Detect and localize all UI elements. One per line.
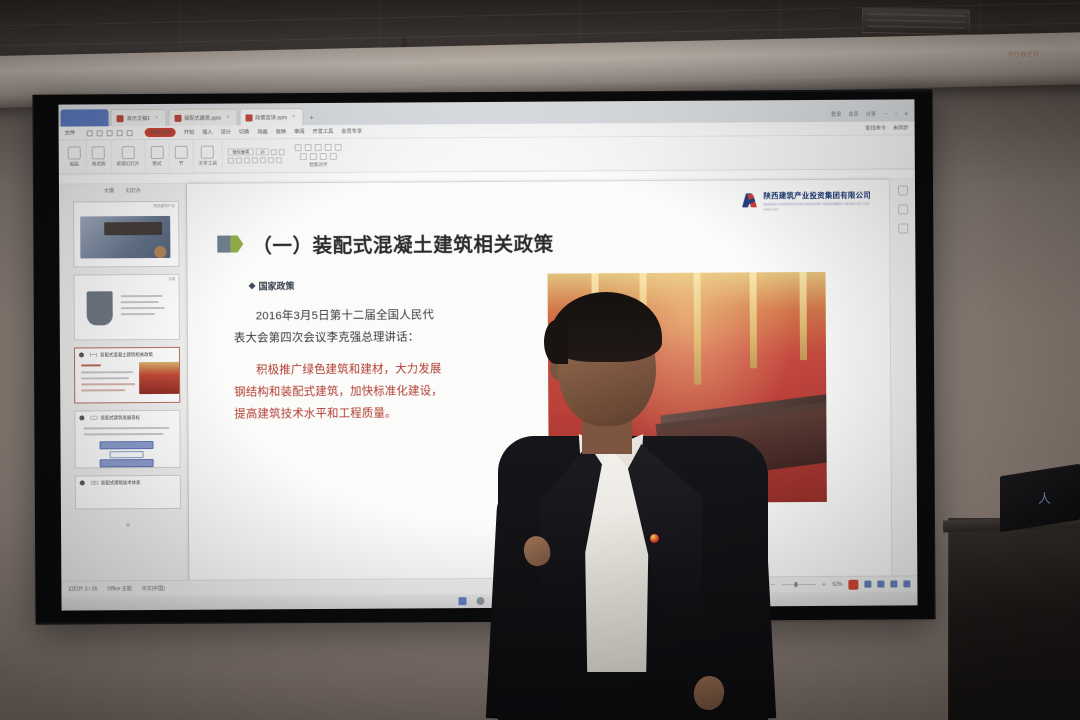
menu-item-view[interactable]: 开发工具	[312, 128, 333, 135]
sync-status: 未同步	[893, 124, 909, 131]
font-name-input[interactable]: 微软雅黑	[228, 148, 254, 155]
decrease-font-icon[interactable]	[279, 149, 285, 155]
close-button[interactable]: ✕	[904, 111, 908, 117]
podium	[948, 518, 1080, 720]
sorter-view-icon[interactable]	[877, 581, 884, 588]
add-slide-button[interactable]: +	[75, 518, 181, 533]
format-painter-icon	[92, 146, 105, 159]
company-logo: 陕西建筑产业投资集团有限公司 SHAANXI CONSTRUCTION INDU…	[742, 190, 871, 212]
zoom-out-button[interactable]: －	[770, 581, 775, 588]
ceiling-vent	[862, 7, 970, 35]
underline-icon[interactable]	[244, 157, 250, 163]
presenter	[498, 286, 768, 720]
tab-document-3[interactable]: 政策宣讲.pptx ×	[239, 108, 303, 125]
company-name-cn: 陕西建筑产业投资集团有限公司	[763, 190, 871, 202]
ribbon-group-section[interactable]: 节	[169, 140, 193, 173]
member-button[interactable]: 会员	[848, 111, 858, 118]
align-right-icon[interactable]	[315, 143, 322, 150]
login-button[interactable]: 登录	[831, 111, 841, 118]
thumbnail-slide-1[interactable]: 1 陕西建筑产业	[73, 201, 179, 268]
thumbnail-bullet-icon	[79, 415, 84, 420]
presenter-hair	[550, 292, 662, 362]
thumbnail-slide-4[interactable]: 4 （二）装配式建筑发展目标	[74, 410, 180, 469]
zoom-slider[interactable]	[781, 584, 815, 586]
laptop-logo-icon: 人	[1038, 492, 1050, 506]
slide-title-row: （一）装配式混凝土建筑相关政策	[217, 228, 554, 259]
font-color-icon[interactable]	[268, 157, 274, 163]
menu-item-start[interactable]: 开始	[184, 129, 194, 136]
new-slide-icon	[121, 146, 134, 159]
columns-icon[interactable]	[310, 153, 317, 160]
align-center-icon[interactable]	[305, 144, 312, 151]
wps-file-icon	[117, 115, 124, 122]
slide-title: （一）装配式混凝土建筑相关政策	[252, 228, 554, 259]
zoom-level-label: 52%	[832, 581, 842, 587]
cursor-icon[interactable]	[127, 130, 133, 136]
language-label[interactable]: 中文(中国)	[142, 585, 165, 592]
template-label: Office 主题	[107, 585, 131, 592]
chevron-marker-icon	[217, 235, 243, 252]
font-size-input[interactable]: 18	[256, 148, 269, 155]
slide-count-label: 幻灯片 3 / 26	[68, 585, 97, 592]
tab-close-icon[interactable]: ×	[155, 115, 158, 121]
thumbnail-slide-3[interactable]: 3 （一）装配式混凝土建筑相关政策	[74, 347, 180, 404]
menu-item-slideshow[interactable]: 放映	[276, 128, 286, 135]
italic-icon[interactable]	[236, 157, 242, 163]
line-spacing-icon[interactable]	[300, 153, 307, 160]
menu-item-member[interactable]: 会员专享	[341, 128, 362, 135]
bullets-icon[interactable]	[325, 143, 332, 150]
right-tool-rail	[889, 179, 917, 575]
thumbnail-title: （三）装配式建筑技术体系	[88, 480, 162, 486]
maximize-button[interactable]: ▫	[895, 111, 897, 117]
projected-image: 演示文稿1 × 装配式建筑.pptx × 政策宣讲.pptx × +	[58, 99, 917, 610]
ribbon-group-format-painter[interactable]: 格式刷	[87, 140, 112, 173]
menu-items: 特色功能 开始 插入 设计 切换 动画 放映 审阅 开发工具 会员专享	[145, 127, 362, 137]
design-ideas-icon[interactable]	[897, 185, 907, 195]
wps-presentation-window: 演示文稿1 × 装配式建筑.pptx × 政策宣讲.pptx × +	[58, 99, 917, 610]
text-direction-icon[interactable]	[320, 152, 327, 159]
settings-icon[interactable]	[898, 204, 908, 214]
tab-home[interactable]	[60, 109, 108, 126]
menu-item-animation[interactable]: 动画	[257, 128, 267, 135]
ribbon-group-paste[interactable]: 粘贴	[63, 140, 87, 173]
company-logo-mark	[742, 192, 759, 209]
reading-view-icon[interactable]	[890, 580, 897, 587]
media-icon[interactable]	[898, 223, 908, 233]
explorer-icon[interactable]	[458, 597, 466, 605]
slideshow-icon[interactable]	[903, 580, 910, 587]
wps-icon[interactable]	[848, 579, 858, 589]
thumbnail-bullet-icon	[79, 352, 84, 357]
layout-icon	[150, 146, 163, 159]
tab-bar-right: 登录 会员 分享 － ▫ ✕	[831, 110, 915, 122]
print-icon[interactable]	[97, 130, 103, 136]
menu-item-insert[interactable]: 插入	[202, 129, 212, 136]
status-bar-right: 备注 － ＋ 52%	[754, 579, 910, 590]
ribbon-group-layout[interactable]: 版式	[145, 140, 169, 173]
font-controls: 微软雅黑 18	[223, 148, 290, 163]
tab-close-icon[interactable]: ×	[226, 115, 229, 121]
wps-file-icon	[174, 114, 181, 121]
ribbon-group-align[interactable]: 智能对齐	[290, 139, 347, 172]
menu-bar-right: 查找命令 未同步	[865, 124, 914, 131]
menu-item-transition[interactable]: 切换	[239, 128, 249, 135]
redo-icon[interactable]	[117, 130, 123, 136]
strikethrough-icon[interactable]	[252, 157, 258, 163]
subheading-text: 国家政策	[259, 279, 295, 292]
ribbon-group-new-slide[interactable]: 新建幻灯片	[111, 140, 145, 173]
normal-view-icon[interactable]	[864, 581, 871, 588]
thumbnail-slide-2[interactable]: 2 目录	[73, 274, 179, 341]
thumbnail-slide-5[interactable]: 5 （三）装配式建筑技术体系	[75, 475, 181, 510]
minimize-button[interactable]: －	[883, 111, 888, 118]
slide-thumbnail-pane[interactable]: 大纲 幻灯片 1 陕西建筑产业 2 目录	[59, 184, 189, 581]
increase-font-icon[interactable]	[271, 149, 277, 155]
lapel-pin-icon	[650, 534, 659, 543]
ribbon: 粘贴 格式刷 新建幻灯片 版式	[59, 135, 915, 174]
housing-label: POWER	[1008, 51, 1040, 59]
menu-file[interactable]: 文件	[59, 129, 81, 136]
browser-icon[interactable]	[476, 597, 484, 605]
zoom-in-button[interactable]: ＋	[821, 581, 826, 588]
tab-document-2[interactable]: 装配式建筑.pptx ×	[168, 109, 237, 126]
wps-file-icon	[245, 114, 252, 121]
numbering-icon[interactable]	[335, 143, 342, 150]
thumbnail-title: （二）装配式建筑发展目标	[87, 415, 161, 421]
tab-document-1[interactable]: 演示文稿1 ×	[110, 109, 166, 126]
bold-icon[interactable]	[228, 158, 234, 164]
paste-icon	[68, 146, 81, 159]
tab-close-icon[interactable]: ×	[292, 114, 295, 120]
menu-item-review[interactable]: 审阅	[294, 128, 304, 135]
projection-screen: 演示文稿1 × 装配式建筑.pptx × 政策宣讲.pptx × +	[32, 89, 935, 624]
podium-laptop[interactable]: 人	[1000, 470, 1080, 532]
slide-subheading: 国家政策	[250, 279, 295, 292]
text-shadow-icon[interactable]	[260, 157, 266, 163]
align-left-icon[interactable]	[295, 144, 302, 151]
thumbnail-pane-header: 大纲 幻灯片	[59, 184, 186, 198]
share-button[interactable]: 分享	[866, 111, 876, 118]
outline-tab[interactable]: 大纲	[104, 187, 114, 194]
slides-tab[interactable]: 幻灯片	[126, 187, 141, 194]
save-icon[interactable]	[87, 130, 93, 136]
shape-fill-icon[interactable]	[330, 152, 337, 159]
menu-item-design[interactable]: 设计	[221, 129, 231, 136]
thumbnail-bullet-icon	[80, 480, 85, 485]
thumbnail-tag: 目录	[168, 277, 175, 282]
thumbnail-title: （一）装配式混凝土建筑相关政策	[87, 352, 161, 358]
text-tool-icon	[201, 146, 214, 159]
find-command[interactable]: 查找命令	[865, 125, 886, 132]
ribbon-group-text-tool[interactable]: 文字工具	[193, 140, 223, 173]
thumbnail-tag: 陕西建筑产业	[153, 204, 175, 209]
conference-room: POWER 演示文稿1 × 装配式建筑.pptx ×	[0, 0, 1080, 720]
quick-access-toolbar	[81, 130, 139, 136]
undo-icon[interactable]	[107, 130, 113, 136]
company-name-en: SHAANXI CONSTRUCTION INDUSTRY INVESTMENT…	[763, 202, 871, 207]
company-name-sub: Shaan Jian	[763, 207, 871, 212]
new-tab-button[interactable]: +	[309, 113, 314, 122]
menu-item-featured[interactable]: 特色功能	[145, 128, 176, 137]
section-icon	[174, 146, 187, 159]
highlight-icon[interactable]	[276, 157, 282, 163]
diamond-bullet-icon	[249, 282, 256, 289]
